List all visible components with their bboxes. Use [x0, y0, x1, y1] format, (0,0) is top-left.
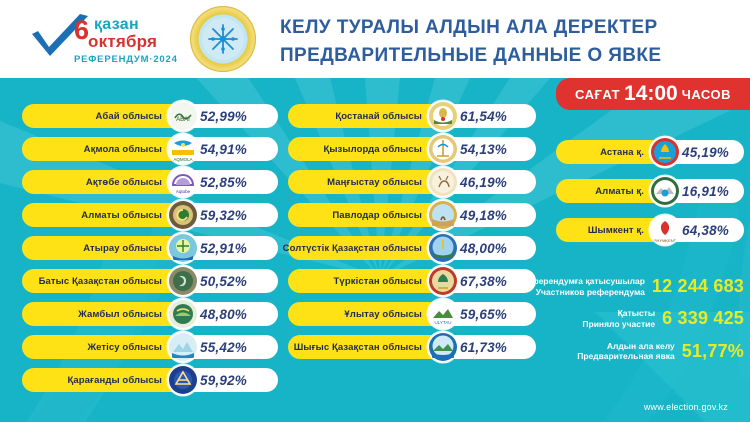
- emblem-star-icon: [206, 22, 240, 56]
- kyzylorda-region-coat-of-arms: [428, 134, 458, 164]
- shymkent-city-coat-of-arms: SHYMKENT: [650, 215, 680, 245]
- region-row[interactable]: Ақтөбе облысы 52,85% Aqtobe: [22, 170, 278, 194]
- region-name: Солтүстік Қазақстан облысы: [283, 243, 444, 254]
- region-name-pill: Солтүстік Қазақстан облысы: [288, 236, 444, 260]
- time-badge: САҒАТ 14:00 ЧАСОВ: [556, 78, 750, 110]
- region-row[interactable]: Қостанай облысы 61,54%: [288, 104, 536, 128]
- region-name-pill: Қарағанды облысы: [22, 368, 184, 392]
- east-kazakhstan-region-coat-of-arms: [428, 332, 458, 362]
- infographic-poster: 6 қазан октября РЕФЕРЕНДУМ·2024 КЕЛУ ТУР…: [0, 0, 750, 422]
- atyrau-region-coat-of-arms: [168, 233, 198, 263]
- region-row[interactable]: Солтүстік Қазақстан облысы 48,00%: [288, 236, 536, 260]
- region-name: Батыс Қазақстан облысы: [39, 276, 184, 287]
- region-name: Маңғыстау облысы: [327, 177, 444, 188]
- footer-website-url[interactable]: www.election.gov.kz: [644, 402, 728, 412]
- region-name: Қарағанды облысы: [67, 375, 184, 386]
- stat-labels: Алдын ала келу Предварительная явка: [577, 341, 675, 362]
- region-name-pill: Ақмола облысы: [22, 137, 184, 161]
- region-row[interactable]: Атырау облысы 52,91%: [22, 236, 278, 260]
- svg-text:SHYMKENT: SHYMKENT: [654, 238, 677, 243]
- region-row[interactable]: Шығыс Қазақстан облысы 61,73%: [288, 335, 536, 359]
- zhambyl-region-coat-of-arms: [168, 299, 198, 329]
- stat-label-ru: Участников референдума: [521, 287, 645, 298]
- stat-label-kz: Қатысты: [582, 308, 655, 319]
- stat-labels: Референдумға қатысушылар Участников рефе…: [521, 276, 645, 297]
- region-row[interactable]: Түркістан облысы 67,38%: [288, 269, 536, 293]
- aktobe-region-coat-of-arms: Aqtobe: [168, 167, 198, 197]
- region-name-pill: Ұлытау облысы: [288, 302, 444, 326]
- logo-day: 6: [74, 17, 89, 44]
- stat-value: 6 339 425: [662, 308, 744, 329]
- ulytau-region-coat-of-arms: ULYTAU: [428, 299, 458, 329]
- region-column-2: Қостанай облысы 61,54% Қызылорда облысы …: [288, 104, 536, 368]
- time-prefix-label: САҒАТ: [575, 87, 620, 102]
- svg-text:ULYTAU: ULYTAU: [434, 320, 451, 325]
- summary-statistics: Референдумға қатысушылар Участников рефе…: [516, 276, 744, 373]
- akmola-region-coat-of-arms: AQMOLA: [168, 134, 198, 164]
- region-name-pill: Ақтөбе облысы: [22, 170, 184, 194]
- region-name-pill: Жетісу облысы: [22, 335, 184, 359]
- region-name-pill: Қызылорда облысы: [288, 137, 444, 161]
- city-row[interactable]: Астана қ. 45,19%: [556, 140, 744, 164]
- svg-text:AQMOLA: AQMOLA: [173, 157, 192, 162]
- stat-labels: Қатысты Приняло участие: [582, 308, 655, 329]
- region-row[interactable]: Ақмола облысы 54,91% AQMOLA: [22, 137, 278, 161]
- almaty-region-coat-of-arms: [168, 200, 198, 230]
- zhetysu-region-coat-of-arms: [168, 332, 198, 362]
- region-name: Шығыс Қазақстан облысы: [294, 342, 444, 353]
- region-name-pill: Батыс Қазақстан облысы: [22, 269, 184, 293]
- stat-label-ru: Предварительная явка: [577, 351, 675, 362]
- region-row[interactable]: Қызылорда облысы 54,13%: [288, 137, 536, 161]
- region-name-pill: Қостанай облысы: [288, 104, 444, 128]
- svg-text:ABAI: ABAI: [176, 117, 190, 123]
- header-bar: 6 қазан октября РЕФЕРЕНДУМ·2024 КЕЛУ ТУР…: [0, 0, 750, 78]
- region-name-pill: Абай облысы: [22, 104, 184, 128]
- stat-label-ru: Приняло участие: [582, 319, 655, 330]
- region-row[interactable]: Жамбыл облысы 48,80%: [22, 302, 278, 326]
- almaty-city-coat-of-arms: [650, 176, 680, 206]
- time-suffix-label: ЧАСОВ: [682, 87, 731, 102]
- page-title: КЕЛУ ТУРАЛЫ АЛДЫН АЛА ДЕРЕКТЕР ПРЕДВАРИТ…: [280, 14, 730, 69]
- turkistan-region-coat-of-arms: [428, 266, 458, 296]
- region-row[interactable]: Қарағанды облысы 59,92%: [22, 368, 278, 392]
- stat-label-kz: Референдумға қатысушылар: [521, 276, 645, 287]
- region-name-pill: Түркістан облысы: [288, 269, 444, 293]
- stat-value: 51,77%: [682, 341, 744, 362]
- logo-month-ru: октября: [88, 33, 157, 51]
- abai-region-coat-of-arms: ABAI: [168, 101, 198, 131]
- region-row[interactable]: Павлодар облысы 49,18%: [288, 203, 536, 227]
- stat-row: Алдын ала келу Предварительная явка 51,7…: [516, 341, 744, 362]
- region-row[interactable]: Абай облысы 52,99% ABAI: [22, 104, 278, 128]
- stat-row: Референдумға қатысушылар Участников рефе…: [516, 276, 744, 297]
- region-row[interactable]: Алматы облысы 59,32%: [22, 203, 278, 227]
- city-column-3: Астана қ. 45,19% Алматы қ. 16,91% Шымкен…: [556, 140, 744, 257]
- region-name-pill: Атырау облысы: [22, 236, 184, 260]
- city-row[interactable]: Алматы қ. 16,91%: [556, 179, 744, 203]
- karaganda-region-coat-of-arms: [168, 365, 198, 395]
- region-row[interactable]: Батыс Қазақстан облысы 50,52%: [22, 269, 278, 293]
- region-row[interactable]: Жетісу облысы 55,42%: [22, 335, 278, 359]
- west-kazakhstan-region-coat-of-arms: [168, 266, 198, 296]
- region-name: Қызылорда облысы: [323, 144, 444, 155]
- time-value: 14:00: [624, 82, 678, 106]
- kazakhstan-election-commission-emblem: [190, 6, 256, 72]
- north-kazakhstan-region-coat-of-arms: [428, 233, 458, 263]
- stat-row: Қатысты Приняло участие 6 339 425: [516, 308, 744, 329]
- svg-text:Aqtobe: Aqtobe: [176, 189, 191, 194]
- region-name-pill: Шығыс Қазақстан облысы: [288, 335, 444, 359]
- region-column-1: Абай облысы 52,99% ABAI Ақмола облысы 54…: [22, 104, 278, 401]
- region-name-pill: Маңғыстау облысы: [288, 170, 444, 194]
- astana-city-coat-of-arms: [650, 137, 680, 167]
- title-russian: ПРЕДВАРИТЕЛЬНЫЕ ДАННЫЕ О ЯВКЕ: [280, 42, 730, 70]
- city-row[interactable]: Шымкент қ. 64,38% SHYMKENT: [556, 218, 744, 242]
- stat-value: 12 244 683: [652, 276, 744, 297]
- mangystau-region-coat-of-arms: [428, 167, 458, 197]
- referendum-logo: 6 қазан октября РЕФЕРЕНДУМ·2024: [30, 8, 175, 70]
- pavlodar-region-coat-of-arms: [428, 200, 458, 230]
- region-name-pill: Алматы облысы: [22, 203, 184, 227]
- title-kazakh: КЕЛУ ТУРАЛЫ АЛДЫН АЛА ДЕРЕКТЕР: [280, 14, 730, 42]
- region-row[interactable]: Маңғыстау облысы 46,19%: [288, 170, 536, 194]
- region-name-pill: Павлодар облысы: [288, 203, 444, 227]
- kostanay-region-coat-of-arms: [428, 101, 458, 131]
- stat-label-kz: Алдын ала келу: [577, 341, 675, 352]
- region-row[interactable]: Ұлытау облысы 59,65% ULYTAU: [288, 302, 536, 326]
- logo-subtitle: РЕФЕРЕНДУМ·2024: [74, 54, 178, 65]
- region-name-pill: Жамбыл облысы: [22, 302, 184, 326]
